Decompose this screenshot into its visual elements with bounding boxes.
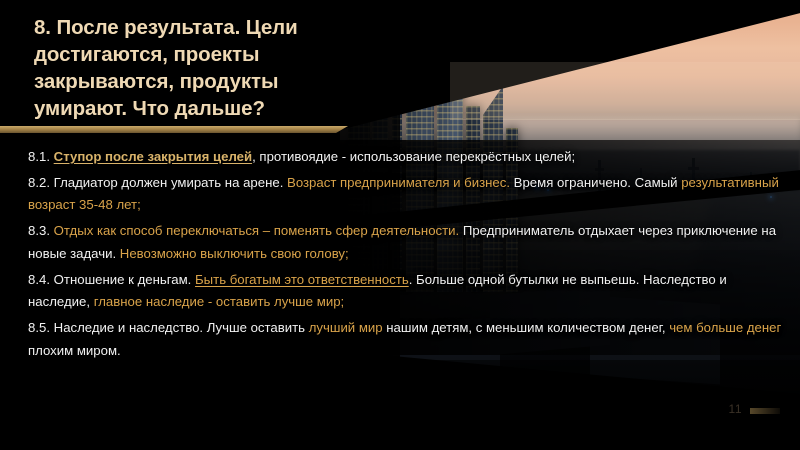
page-number: 11 xyxy=(729,402,742,416)
body-text: Наследие и наследство. Лучше оставить xyxy=(50,320,309,335)
body-text: нашим детям, с меньшим количеством денег… xyxy=(383,320,670,335)
paragraph-number: 8.1. xyxy=(28,149,50,164)
body-text: плохим миром. xyxy=(28,343,121,358)
body-text: Отношение к деньгам. xyxy=(50,272,195,287)
paragraph-number: 8.3. xyxy=(28,223,50,238)
highlighted-text: чем больше денег xyxy=(669,320,781,335)
highlighted-text: Невозможно выключить свою голову; xyxy=(120,246,349,261)
highlighted-text: главное наследие - оставить лучше мир; xyxy=(94,294,345,309)
body-text: Гладиатор должен умирать на арене. xyxy=(50,175,287,190)
title-gold-rule xyxy=(0,126,348,133)
paragraph-number: 8.4. xyxy=(28,272,50,287)
body-paragraph: 8.3. Отдых как способ переключаться – по… xyxy=(28,220,788,265)
highlight-band xyxy=(450,62,800,120)
body-paragraph: 8.1. Ступор после закрытия целей, против… xyxy=(28,146,788,169)
highlighted-text: Ступор после закрытия целей xyxy=(54,149,252,164)
highlighted-text: лучший мир xyxy=(309,320,383,335)
presentation-slide: 8. После результата. Цели достигаются, п… xyxy=(0,0,800,450)
body-text: Время ограничено. Самый xyxy=(510,175,681,190)
paragraph-number: 8.5. xyxy=(28,320,50,335)
paragraph-number: 8.2. xyxy=(28,175,50,190)
bottom-fade-overlay xyxy=(0,360,800,450)
body-paragraph: 8.2. Гладиатор должен умирать на арене. … xyxy=(28,172,788,217)
body-paragraph: 8.5. Наследие и наследство. Лучше остави… xyxy=(28,317,788,362)
body-paragraph: 8.4. Отношение к деньгам. Быть богатым э… xyxy=(28,269,788,314)
slide-title: 8. После результата. Цели достигаются, п… xyxy=(34,14,364,122)
body-text: , противоядие - использование перекрёстн… xyxy=(252,149,575,164)
highlighted-text: Отдых как способ переключаться – поменят… xyxy=(54,223,460,238)
highlighted-text: Быть богатым это ответственность xyxy=(195,272,409,287)
page-number-accent-tick xyxy=(750,408,780,414)
slide-body-text: 8.1. Ступор после закрытия целей, против… xyxy=(28,146,788,365)
title-block: 8. После результата. Цели достигаются, п… xyxy=(34,14,364,122)
highlighted-text: Возраст предпринимателя и бизнес. xyxy=(287,175,510,190)
